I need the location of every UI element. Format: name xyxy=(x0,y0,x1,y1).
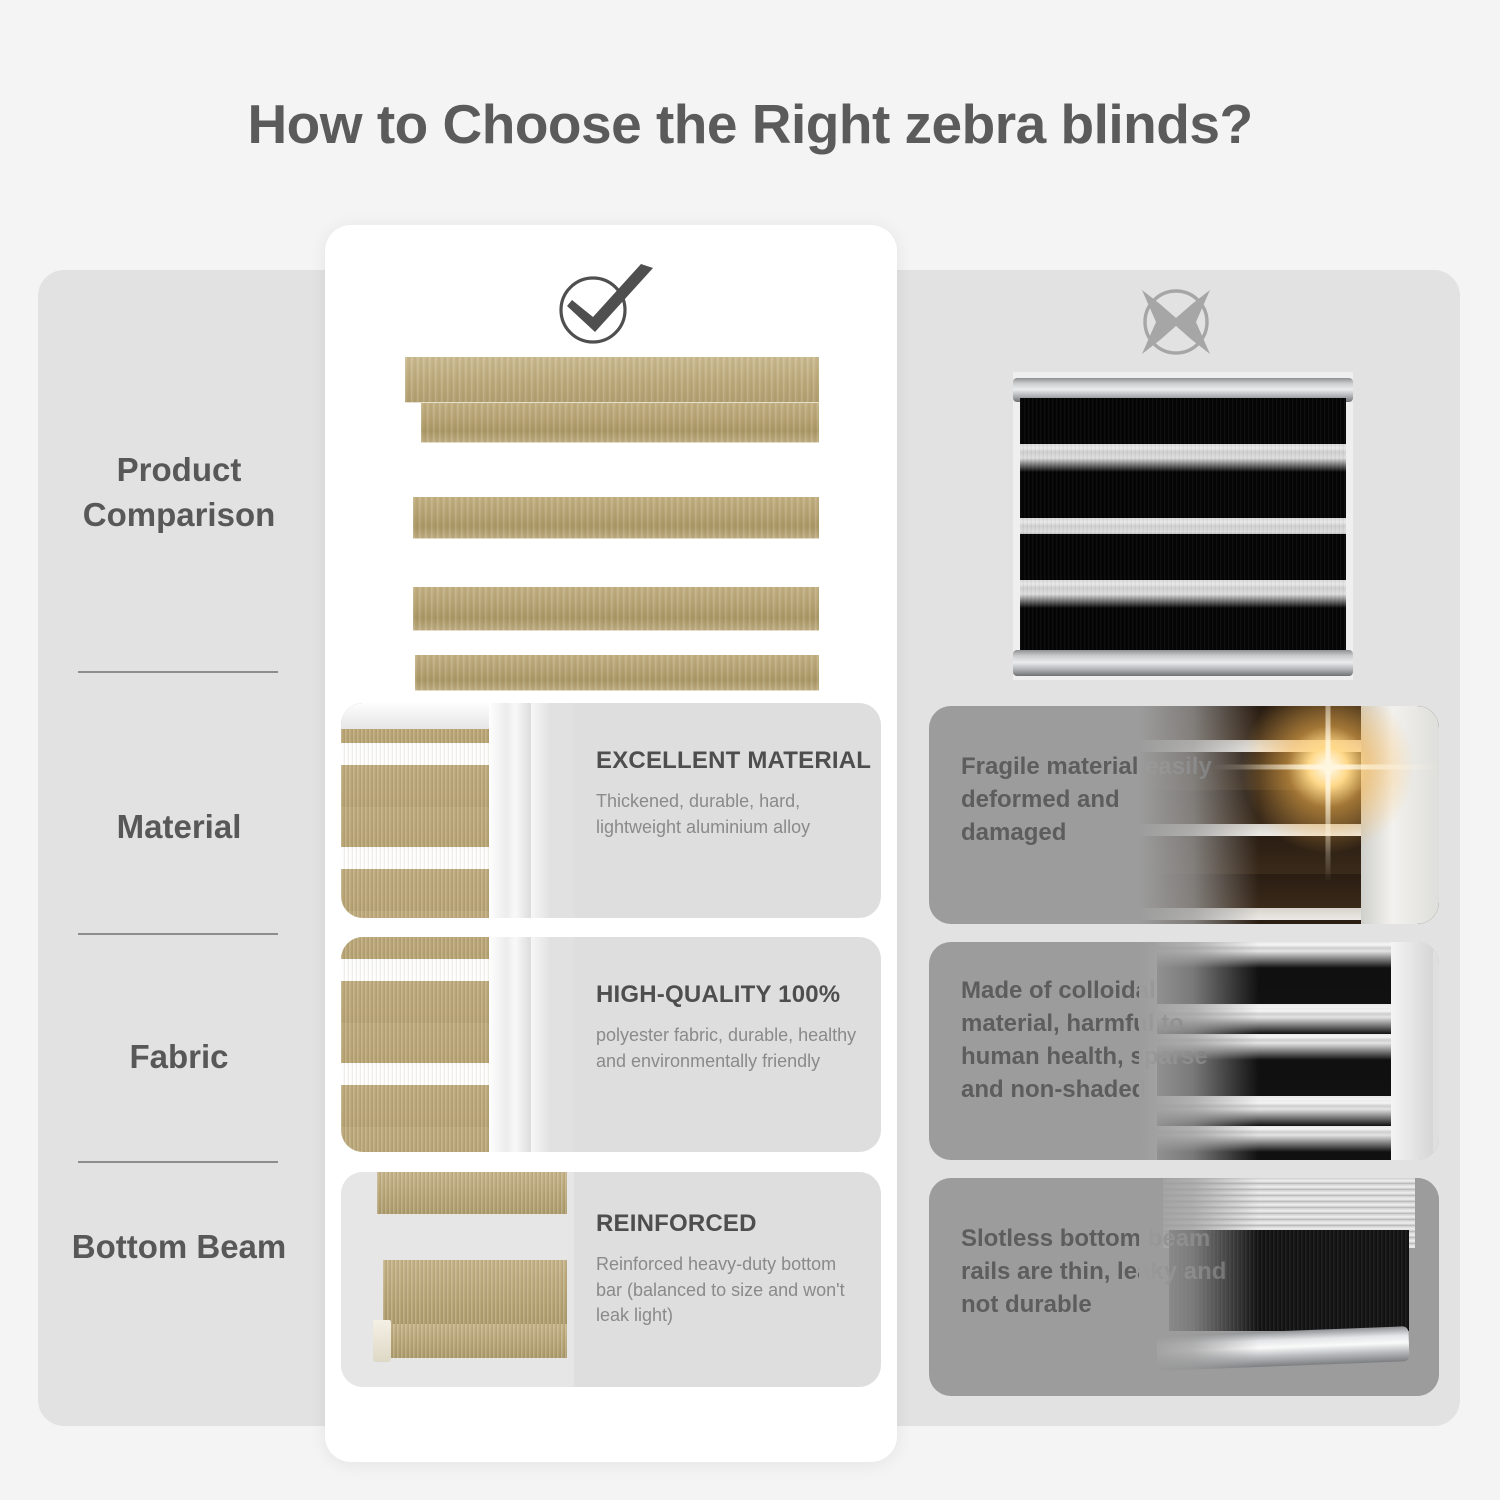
infographic-root: How to Choose the Right zebra blinds? Pr… xyxy=(0,0,1500,1500)
feature-image-bottom-beam xyxy=(341,1172,574,1387)
page-title: How to Choose the Right zebra blinds? xyxy=(0,92,1500,156)
feature-desc-bottom-beam: Reinforced heavy-duty bottom bar (balanc… xyxy=(596,1252,863,1329)
feature-title-fabric: HIGH-QUALITY 100% xyxy=(596,981,863,1009)
drawback-image-fabric xyxy=(1139,942,1439,1160)
not-recommended-product-column: Fragile material easily deformed and dam… xyxy=(905,270,1460,1426)
cross-circle-icon xyxy=(1120,282,1240,372)
drawback-card-fabric: Made of colloidal material, harmful to h… xyxy=(929,942,1439,1160)
drawback-card-bottom-beam: Slotless bottom beam rails are thin, lea… xyxy=(929,1178,1439,1396)
recommended-product-card: EXCELLENT MATERIAL Thickened, durable, h… xyxy=(325,225,897,1462)
feature-title-bottom-beam: REINFORCED xyxy=(596,1210,863,1238)
drawback-card-material: Fragile material easily deformed and dam… xyxy=(929,706,1439,924)
row-divider-1 xyxy=(78,671,278,673)
row-divider-3 xyxy=(78,1161,278,1163)
row-label-product-comparison: Product Comparison xyxy=(38,448,320,537)
feature-text-material: EXCELLENT MATERIAL Thickened, durable, h… xyxy=(574,703,881,918)
feature-desc-fabric: polyester fabric, durable, healthy and e… xyxy=(596,1023,863,1074)
drawback-image-bottom-beam xyxy=(1139,1178,1439,1396)
beige-zebra-blind-hero-image xyxy=(405,357,819,705)
feature-desc-material: Thickened, durable, hard, lightweight al… xyxy=(596,789,871,840)
row-label-material: Material xyxy=(38,805,320,850)
feature-text-bottom-beam: REINFORCED Reinforced heavy-duty bottom … xyxy=(574,1172,881,1387)
black-zebra-blind-hero-image xyxy=(1013,372,1353,680)
check-circle-icon xyxy=(545,262,665,352)
feature-text-fabric: HIGH-QUALITY 100% polyester fabric, dura… xyxy=(574,937,881,1152)
feature-card-bottom-beam: REINFORCED Reinforced heavy-duty bottom … xyxy=(341,1172,881,1387)
feature-title-material: EXCELLENT MATERIAL xyxy=(596,747,871,775)
feature-card-fabric: HIGH-QUALITY 100% polyester fabric, dura… xyxy=(341,937,881,1152)
row-label-column: Product Comparison Material Fabric Botto… xyxy=(38,270,320,1426)
feature-image-material xyxy=(341,703,574,918)
row-label-fabric: Fabric xyxy=(38,1035,320,1080)
drawback-image-material xyxy=(1139,706,1439,924)
feature-card-material: EXCELLENT MATERIAL Thickened, durable, h… xyxy=(341,703,881,918)
row-divider-2 xyxy=(78,933,278,935)
feature-image-fabric xyxy=(341,937,574,1152)
row-label-bottom-beam: Bottom Beam xyxy=(38,1225,320,1270)
